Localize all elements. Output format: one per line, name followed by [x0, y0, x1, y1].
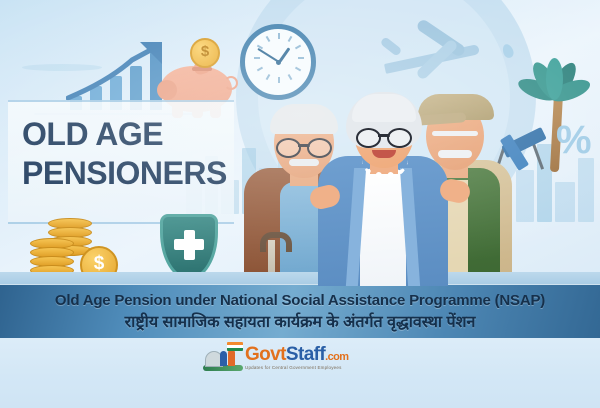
coin-icon: $: [190, 38, 220, 68]
india-flag-icon: [227, 342, 243, 351]
coin-shadow: [22, 64, 102, 71]
illustration-area: $: [0, 0, 600, 286]
logo-word-dotcom: .com: [325, 351, 348, 363]
poster-image: $: [0, 0, 600, 408]
coin-stack-icon: $: [30, 218, 126, 278]
logo-word-govt: Govt: [245, 344, 286, 365]
logo-tagline: Updates for Central Government Employees: [245, 366, 348, 371]
elderly-woman-blue-cardigan: [318, 54, 448, 286]
banner-title-hindi: राष्ट्रीय सामाजिक सहायता कार्यक्रम के अं…: [125, 310, 476, 332]
percent-icon: %: [556, 118, 592, 163]
eyeglasses-icon: [356, 128, 412, 144]
parliament-emblem-icon: [203, 345, 243, 371]
headline-line-1: OLD AGE: [22, 118, 242, 151]
logo-wordmark: GovtStaff.com Updates for Central Govern…: [245, 345, 348, 371]
headline-line-2: PENSIONERS: [22, 157, 242, 190]
logo-word-staff: Staff: [286, 344, 325, 365]
footer-area: GovtStaff.com Updates for Central Govern…: [0, 338, 600, 408]
banner-title-english: Old Age Pension under National Social As…: [55, 292, 545, 309]
health-shield-icon: [160, 214, 218, 280]
govtstaff-logo[interactable]: GovtStaff.com Updates for Central Govern…: [203, 343, 348, 373]
title-banner: Old Age Pension under National Social As…: [0, 284, 600, 340]
page-title: OLD AGE PENSIONERS: [22, 118, 242, 189]
